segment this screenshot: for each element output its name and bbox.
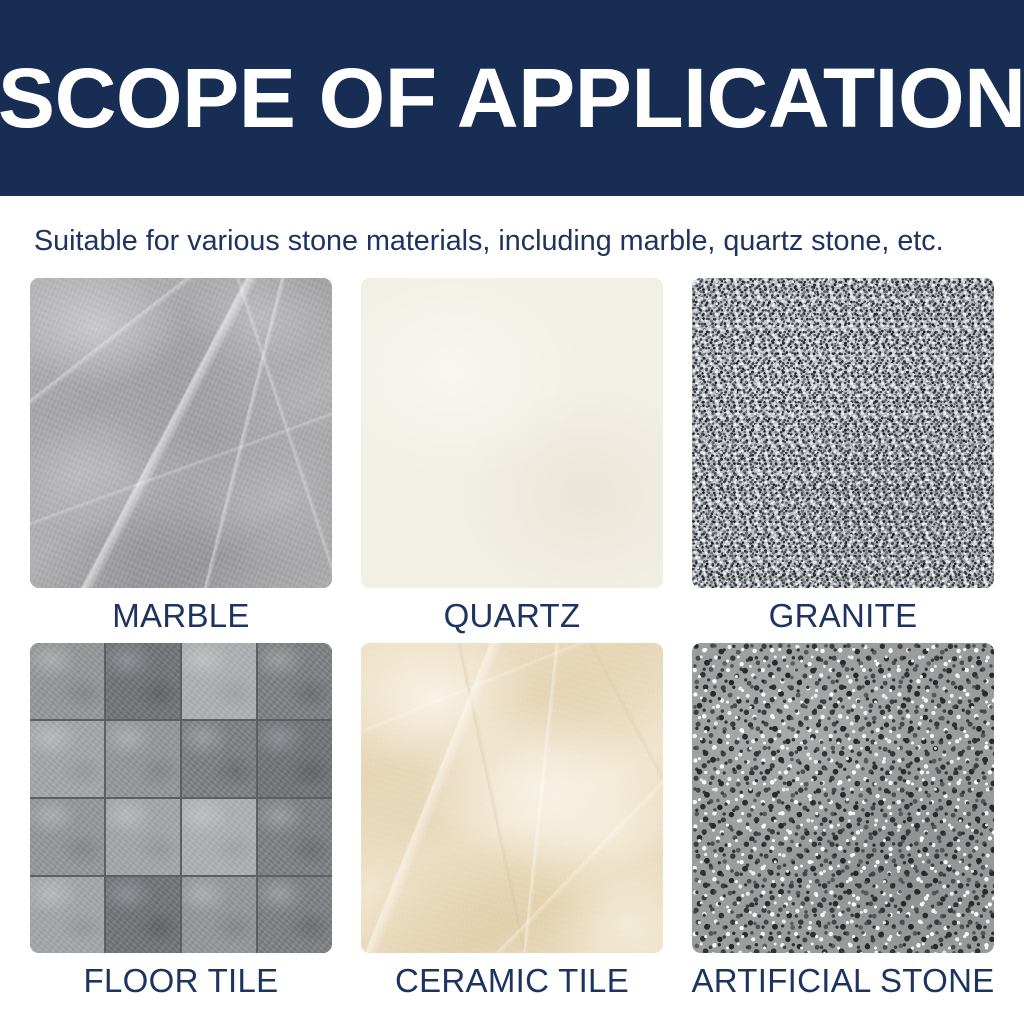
material-label-quartz: QUARTZ <box>361 588 663 643</box>
floor-tile-unit <box>182 721 256 797</box>
material-card-floor-tile: FLOOR TILE <box>30 643 332 1008</box>
floor-tile-unit <box>106 799 180 875</box>
material-card-granite: GRANITE <box>692 278 994 643</box>
floor-tile-unit <box>182 643 256 719</box>
floor-tile-unit <box>182 877 256 953</box>
material-card-artificial-stone: ARTIFICIAL STONE <box>692 643 994 1008</box>
granite-swatch <box>692 278 994 588</box>
floor-tile-unit <box>106 721 180 797</box>
floor-tile-unit <box>30 877 104 953</box>
ceramic-grain-overlay <box>361 643 663 953</box>
material-label-ceramic-tile: CERAMIC TILE <box>361 953 663 1008</box>
floor-tile-swatch <box>30 643 332 953</box>
floor-tile-unit <box>30 799 104 875</box>
artificial-stone-swatch <box>692 643 994 953</box>
scope-of-application-infographic: SCOPE OF APPLICATION Suitable for variou… <box>0 0 1024 1024</box>
material-label-artificial-stone: ARTIFICIAL STONE <box>692 953 994 1008</box>
marble-grain-overlay <box>30 278 332 588</box>
material-card-marble: MARBLE <box>30 278 332 643</box>
floor-tile-unit <box>30 643 104 719</box>
material-card-quartz: QUARTZ <box>361 278 663 643</box>
material-grid: MARBLE QUARTZ GRANITE <box>30 278 994 1008</box>
artificial-fleck-layer-two <box>692 643 994 953</box>
material-label-marble: MARBLE <box>30 588 332 643</box>
quartz-swatch <box>361 278 663 588</box>
floor-tile-unit <box>258 643 332 719</box>
header-banner: SCOPE OF APPLICATION <box>0 0 1024 196</box>
floor-tile-unit <box>258 799 332 875</box>
floor-tile-unit <box>258 877 332 953</box>
page-title: SCOPE OF APPLICATION <box>0 56 1024 140</box>
marble-swatch <box>30 278 332 588</box>
floor-tile-grid <box>30 643 332 953</box>
material-label-granite: GRANITE <box>692 588 994 643</box>
quartz-chip-layer-two <box>361 278 663 588</box>
floor-tile-unit <box>106 643 180 719</box>
material-label-floor-tile: FLOOR TILE <box>30 953 332 1008</box>
floor-tile-unit <box>182 799 256 875</box>
subtitle-text: Suitable for various stone materials, in… <box>34 225 984 258</box>
floor-tile-unit <box>106 877 180 953</box>
material-card-ceramic-tile: CERAMIC TILE <box>361 643 663 1008</box>
floor-tile-unit <box>258 721 332 797</box>
floor-tile-unit <box>30 721 104 797</box>
ceramic-tile-swatch <box>361 643 663 953</box>
granite-speckle-layer-two <box>692 278 994 588</box>
